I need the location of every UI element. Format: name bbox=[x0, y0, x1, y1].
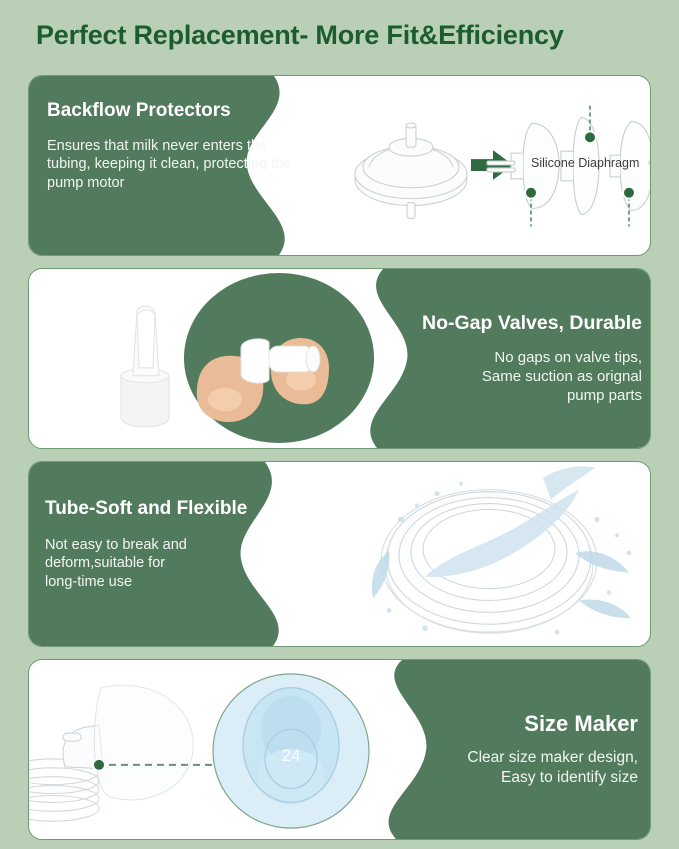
feature-card-no-gap-valves: No-Gap Valves, Durable No gaps on valve … bbox=[28, 268, 651, 449]
card-4-body: Clear size maker design, Easy to identif… bbox=[467, 748, 638, 788]
card-4-title: Size Maker bbox=[524, 711, 638, 736]
card-2-body: No gaps on valve tips, Same suction as o… bbox=[482, 348, 642, 406]
feature-card-backflow-protectors: Silicone Diaphragm Inner case Outer case… bbox=[28, 75, 651, 256]
card-1-body: Ensures that milk never enters the tubin… bbox=[47, 137, 312, 193]
feature-card-tube-soft-flexible: Tube-Soft and Flexible Not easy to break… bbox=[28, 461, 651, 647]
size-value-24: 24 bbox=[282, 746, 301, 765]
card-3-text-block: Tube-Soft and Flexible Not easy to break… bbox=[45, 462, 305, 646]
card-2-text-block: No-Gap Valves, Durable No gaps on valve … bbox=[322, 269, 642, 448]
card-3-title: Tube-Soft and Flexible bbox=[45, 498, 305, 520]
card-4-text-block: Size Maker Clear size maker design, Easy… bbox=[363, 660, 638, 839]
card-2-title: No-Gap Valves, Durable bbox=[422, 312, 642, 334]
coiled-tube-water-splash-artwork bbox=[329, 462, 651, 646]
size-marker-dot bbox=[93, 759, 105, 771]
label-silicone-diaphragm: Silicone Diaphragm bbox=[531, 156, 639, 170]
card-1-text-block: Backflow Protectors Ensures that milk ne… bbox=[47, 76, 312, 255]
size-maker-artwork: 24 bbox=[29, 660, 389, 839]
page-title: Perfect Replacement- More Fit&Efficiency bbox=[36, 20, 564, 51]
card-3-body: Not easy to break and deform,suitable fo… bbox=[45, 536, 305, 592]
feature-card-size-maker: 24 Size Maker Clear size maker design, E… bbox=[28, 659, 651, 840]
card-1-title: Backflow Protectors bbox=[47, 100, 312, 122]
